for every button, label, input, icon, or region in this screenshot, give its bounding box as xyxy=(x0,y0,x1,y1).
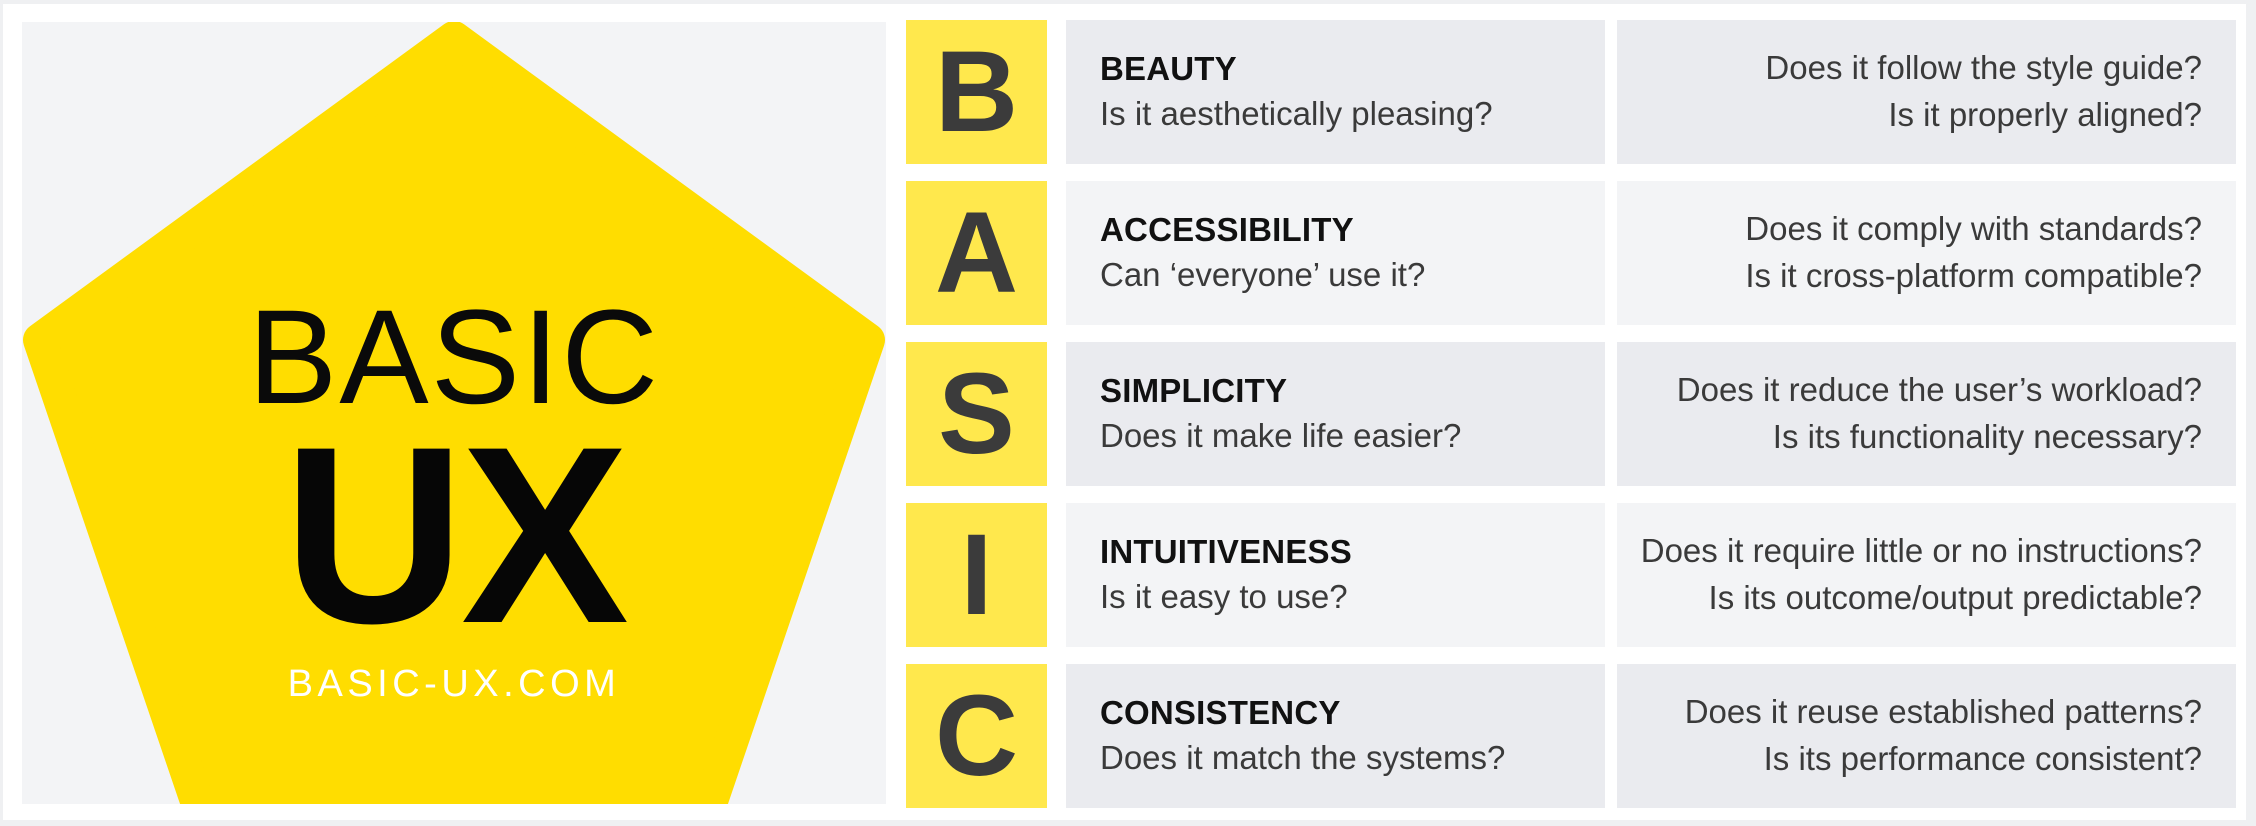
principle-title: BEAUTY xyxy=(1100,48,1571,90)
spacer xyxy=(1047,342,1066,486)
questions-cell: Does it follow the style guide? Is it pr… xyxy=(1617,20,2236,164)
principle-cell: ACCESSIBILITY Can ‘everyone’ use it? xyxy=(1066,181,1605,325)
principle-subtitle: Can ‘everyone’ use it? xyxy=(1100,253,1571,298)
spacer xyxy=(1047,181,1066,325)
spacer xyxy=(1047,503,1066,647)
principle-subtitle: Is it easy to use? xyxy=(1100,575,1571,620)
letter-tile-b[interactable]: B xyxy=(906,20,1047,164)
principle-title: CONSISTENCY xyxy=(1100,692,1571,734)
principle-cell: INTUITIVENESS Is it easy to use? xyxy=(1066,503,1605,647)
spacer xyxy=(1605,181,1617,325)
principle-subtitle: Does it make life easier? xyxy=(1100,414,1571,459)
principle-subtitle: Is it aesthetically pleasing? xyxy=(1100,92,1571,137)
infographic-root: BASIC UX BASIC-UX.COM B BEAUTY Is it aes… xyxy=(0,0,2256,826)
spacer xyxy=(1605,503,1617,647)
letter-tile-s[interactable]: S xyxy=(906,342,1047,486)
questions-cell: Does it reduce the user’s workload? Is i… xyxy=(1617,342,2236,486)
principle-cell: CONSISTENCY Does it match the systems? xyxy=(1066,664,1605,808)
letter-tile-c[interactable]: C xyxy=(906,664,1047,808)
letter-tile-a[interactable]: A xyxy=(906,181,1047,325)
questions-cell: Does it comply with standards? Is it cro… xyxy=(1617,181,2236,325)
table-row: B BEAUTY Is it aesthetically pleasing? D… xyxy=(906,20,2236,164)
spacer xyxy=(1605,664,1617,808)
spacer xyxy=(1605,342,1617,486)
table-row: A ACCESSIBILITY Can ‘everyone’ use it? D… xyxy=(906,181,2236,325)
right-edge-strip xyxy=(2246,0,2256,826)
top-edge-strip xyxy=(0,0,2256,4)
principle-title: ACCESSIBILITY xyxy=(1100,209,1571,251)
question-line: Does it reuse established patterns? xyxy=(1685,689,2202,736)
principle-cell: BEAUTY Is it aesthetically pleasing? xyxy=(1066,20,1605,164)
question-line: Does it require little or no instruction… xyxy=(1641,528,2202,575)
question-line: Does it reduce the user’s workload? xyxy=(1677,367,2202,414)
letter-tile-i[interactable]: I xyxy=(906,503,1047,647)
principles-table: B BEAUTY Is it aesthetically pleasing? D… xyxy=(906,20,2236,806)
table-row: C CONSISTENCY Does it match the systems?… xyxy=(906,664,2236,808)
questions-cell: Does it require little or no instruction… xyxy=(1617,503,2236,647)
table-row: I INTUITIVENESS Is it easy to use? Does … xyxy=(906,503,2236,647)
spacer xyxy=(1605,20,1617,164)
brand-logo-panel: BASIC UX BASIC-UX.COM xyxy=(22,22,886,804)
principle-cell: SIMPLICITY Does it make life easier? xyxy=(1066,342,1605,486)
principle-title: INTUITIVENESS xyxy=(1100,531,1571,573)
principle-title: SIMPLICITY xyxy=(1100,370,1571,412)
left-edge-strip xyxy=(0,0,3,826)
questions-cell: Does it reuse established patterns? Is i… xyxy=(1617,664,2236,808)
question-line: Is its performance consistent? xyxy=(1764,736,2202,783)
question-line: Does it follow the style guide? xyxy=(1765,45,2202,92)
question-line: Is its functionality necessary? xyxy=(1773,414,2202,461)
spacer xyxy=(1047,664,1066,808)
pentagon-shape-icon xyxy=(22,22,886,804)
question-line: Does it comply with standards? xyxy=(1745,206,2202,253)
question-line: Is it cross-platform compatible? xyxy=(1745,253,2202,300)
table-row: S SIMPLICITY Does it make life easier? D… xyxy=(906,342,2236,486)
principle-subtitle: Does it match the systems? xyxy=(1100,736,1571,781)
spacer xyxy=(1047,20,1066,164)
question-line: Is its outcome/output predictable? xyxy=(1709,575,2202,622)
bottom-edge-strip xyxy=(0,820,2256,826)
question-line: Is it properly aligned? xyxy=(1888,92,2202,139)
